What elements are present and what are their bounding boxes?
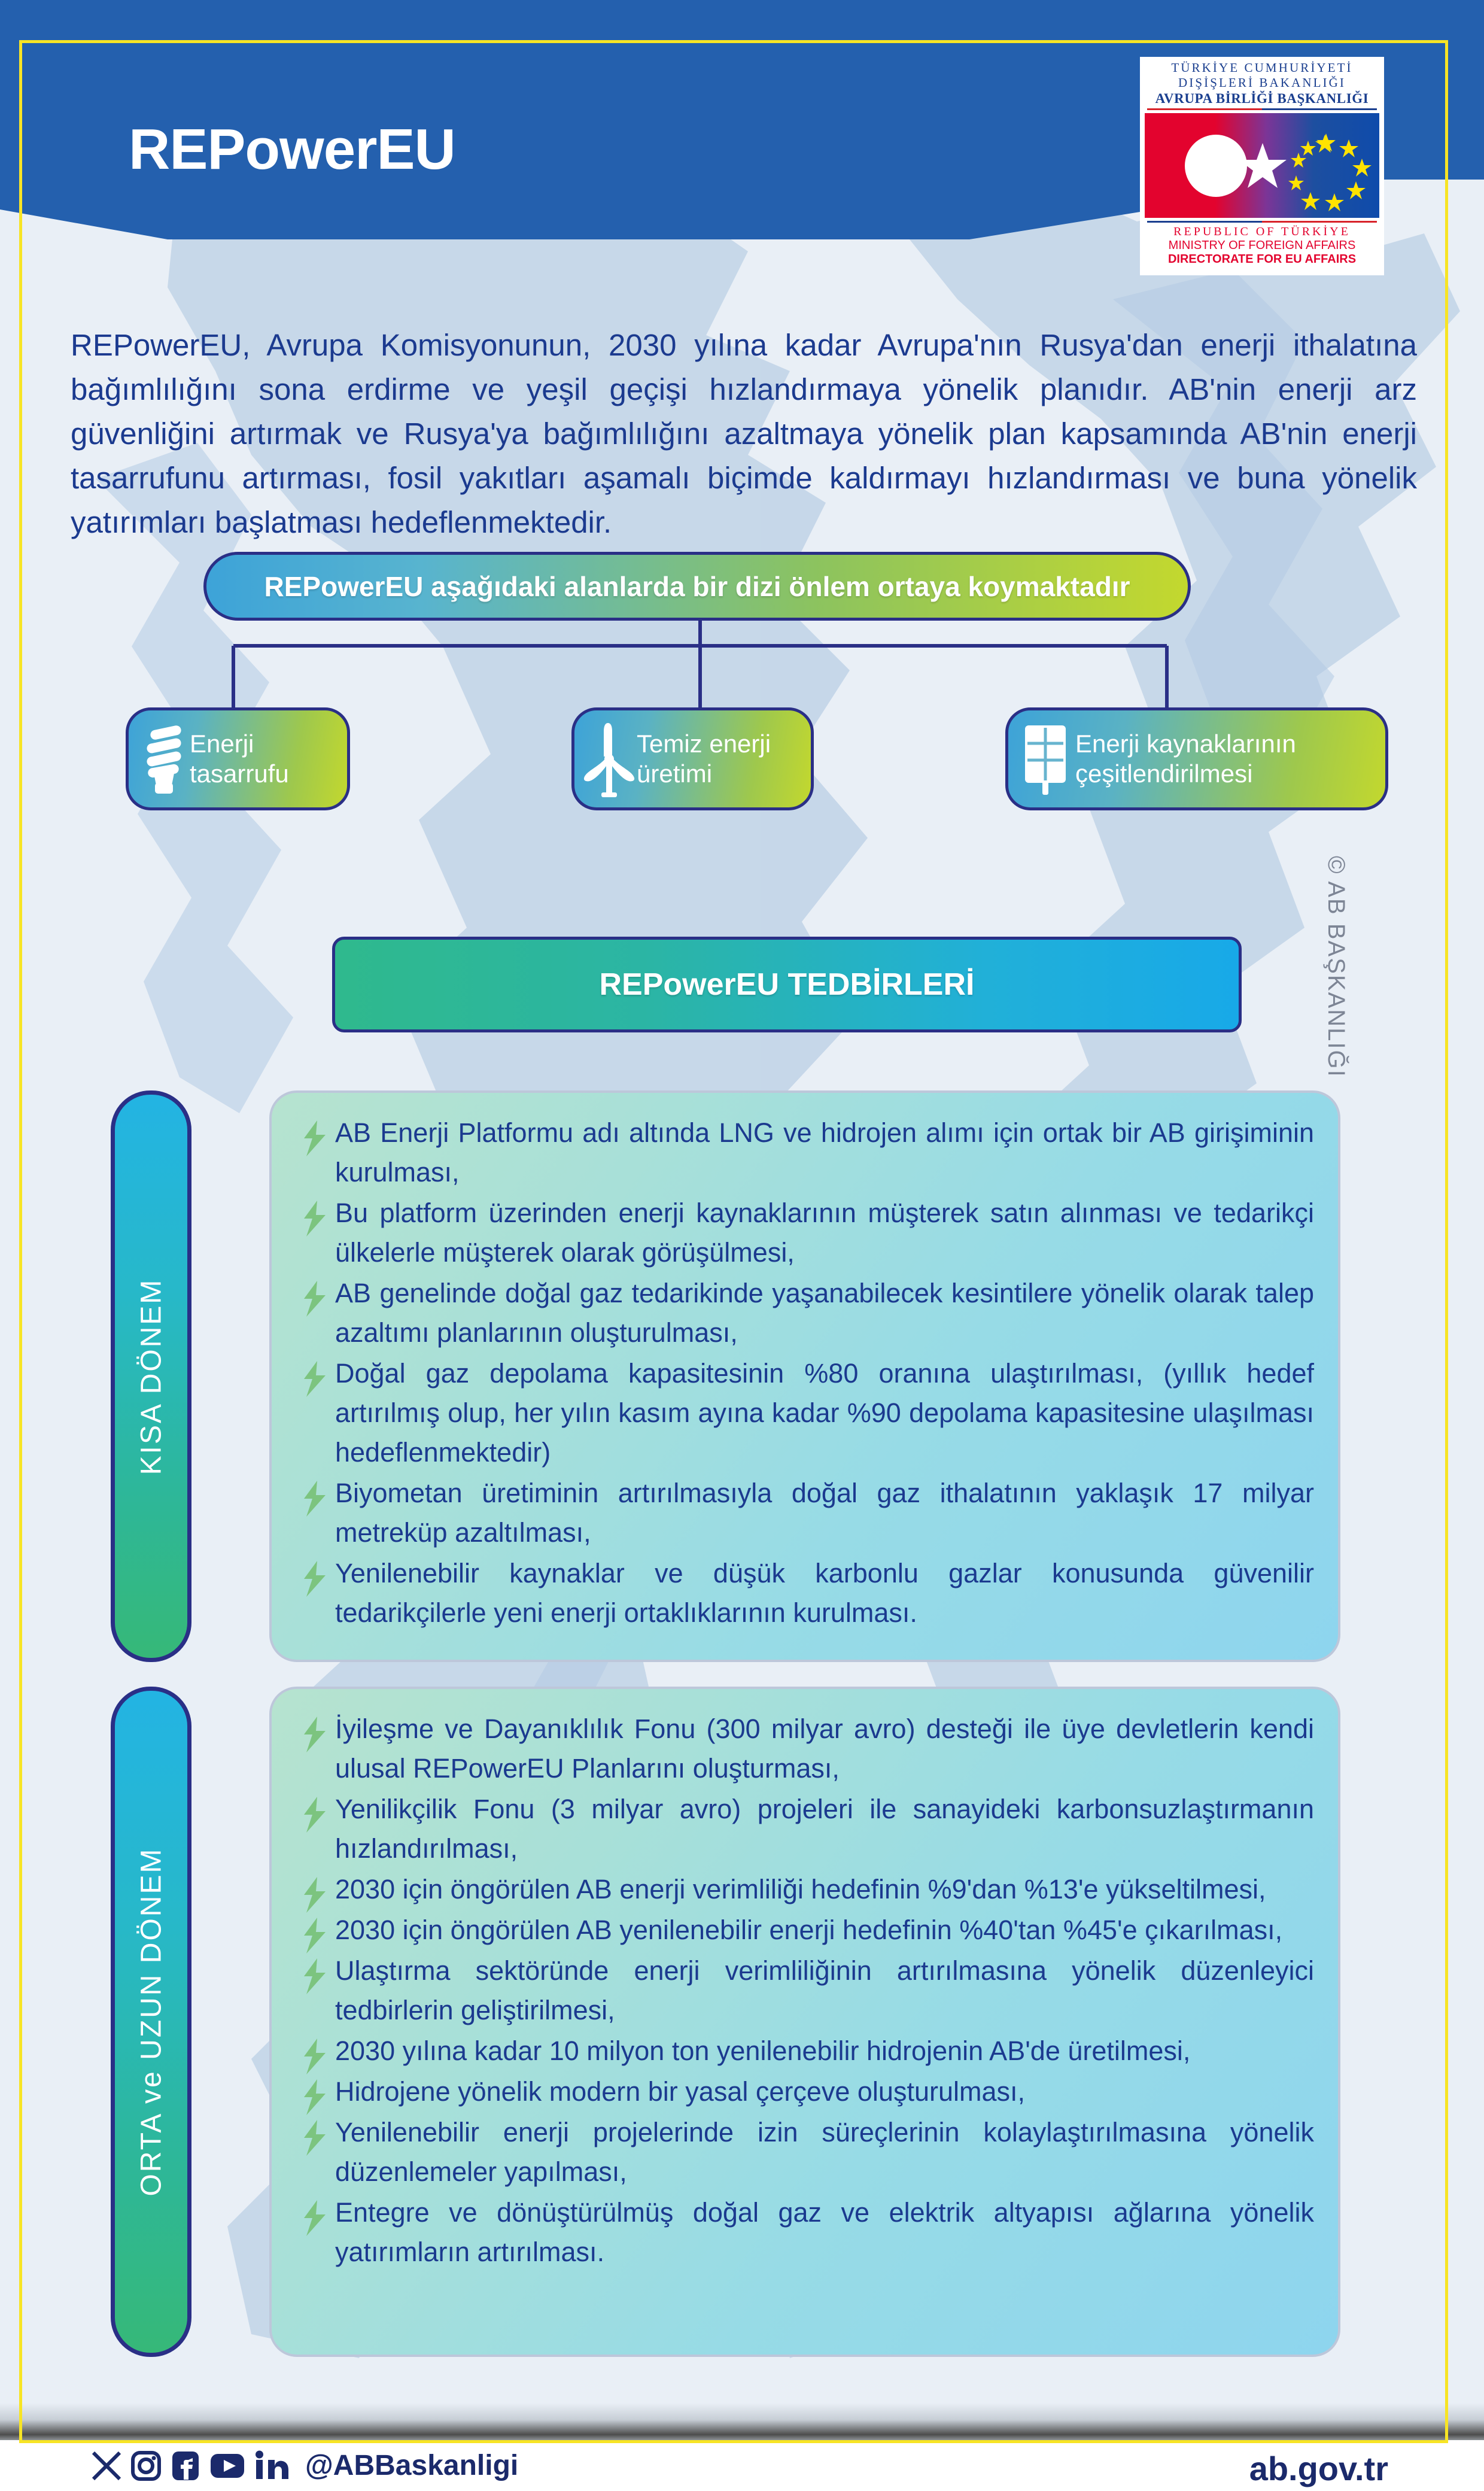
list-item: Yenilenebilir kaynaklar ve düşük karbonl… [298, 1554, 1314, 1633]
bolt-icon [302, 2039, 328, 2074]
infographic-page: REPowerEU TÜRKİYE CUMHURİYETİ DIŞİŞLERİ … [0, 0, 1484, 2491]
bolt-icon [302, 1120, 328, 1156]
measures-banner: REPowerEU TEDBİRLERİ [332, 937, 1242, 1032]
list-item-text: İyileşme ve Dayanıklılık Fonu (300 milya… [335, 1714, 1314, 1784]
logo-line-4: REPUBLIC OF TÜRKİYE [1145, 225, 1379, 239]
list-item: 2030 için öngörülen AB yenilenebilir ene… [298, 1910, 1314, 1950]
copyright-label: © AB BAŞKANLIĞI [1322, 856, 1349, 1078]
list-item-text: 2030 yılına kadar 10 milyon ton yenilene… [335, 2036, 1190, 2066]
list-item: Biyometan üretiminin artırılmasıyla doğa… [298, 1474, 1314, 1553]
period-tab-medium-long-term[interactable]: ORTA ve UZUN DÖNEM [111, 1687, 191, 2357]
logo-line-6: DIRECTORATE FOR EU AFFAIRS [1145, 253, 1379, 266]
period-panel-short-term: AB Enerji Platformu adı altında LNG ve h… [269, 1090, 1340, 1662]
period-tab-label: ORTA ve UZUN DÖNEM [135, 1848, 168, 2197]
ministry-logo: TÜRKİYE CUMHURİYETİ DIŞİŞLERİ BAKANLIĞI … [1140, 57, 1384, 275]
social-handle[interactable]: @ABBaskanligi [305, 2449, 518, 2482]
bolt-icon [302, 1361, 328, 1397]
list-item-text: Biyometan üretiminin artırılmasıyla doğa… [335, 1478, 1314, 1548]
list-item-text: Bu platform üzerinden enerji kaynakların… [335, 1198, 1314, 1268]
x-icon[interactable] [90, 2448, 123, 2483]
area-card-diversification[interactable]: Enerji kaynaklarının çeşitlendirilmesi [1005, 707, 1388, 810]
logo-divider-bottom [1147, 221, 1377, 223]
bolt-icon [302, 1958, 328, 1994]
area-card-clean-energy[interactable]: Temiz enerji üretimi [571, 707, 814, 810]
footer-gradient-divider [0, 2403, 1484, 2440]
page-title: REPowerEU [129, 117, 455, 183]
bolt-icon [302, 1877, 328, 1913]
area-card-label: Enerji kaynaklarının çeşitlendirilmesi [1075, 729, 1377, 789]
facebook-icon[interactable] [169, 2448, 202, 2483]
list-item: Yenilikçilik Fonu (3 milyar avro) projel… [298, 1790, 1314, 1869]
list-item: Entegre ve dönüştürülmüş doğal gaz ve el… [298, 2193, 1314, 2272]
list-item-text: Doğal gaz depolama kapasitesinin %80 ora… [335, 1358, 1314, 1468]
list-item: AB Enerji Platformu adı altında LNG ve h… [298, 1113, 1314, 1192]
list-item-text: Yenilenebilir enerji projelerinde izin s… [335, 2117, 1314, 2187]
logo-line-2: DIŞİŞLERİ BAKANLIĞI [1145, 75, 1379, 90]
period-tab-label: KISA DÖNEM [135, 1278, 168, 1475]
list-item-text: 2030 için öngörülen AB enerji verimliliğ… [335, 1874, 1266, 1904]
bolt-icon [302, 1918, 328, 1954]
areas-banner: REPowerEU aşağıdaki alanlarda bir dizi ö… [203, 552, 1191, 621]
list-item-text: AB Enerji Platformu adı altında LNG ve h… [335, 1117, 1314, 1187]
cfl-bulb-icon [138, 723, 190, 795]
list-item-text: Entegre ve dönüştürülmüş doğal gaz ve el… [335, 2197, 1314, 2267]
bolt-icon [302, 1281, 328, 1317]
bolt-icon [302, 1561, 328, 1597]
list-item-text: Yenilenebilir kaynaklar ve düşük karbonl… [335, 1558, 1314, 1628]
youtube-icon[interactable] [208, 2448, 247, 2483]
period-panel-medium-long-term: İyileşme ve Dayanıklılık Fonu (300 milya… [269, 1687, 1340, 2357]
logo-line-3: AVRUPA BİRLİĞİ BAŞKANLIĞI [1145, 90, 1379, 107]
bolt-icon [302, 1481, 328, 1517]
bolt-icon [302, 1797, 328, 1833]
wind-turbine-icon [582, 719, 637, 798]
instagram-icon[interactable] [129, 2448, 163, 2483]
list-item-text: Yenilikçilik Fonu (3 milyar avro) projel… [335, 1794, 1314, 1864]
list-item-text: AB genelinde doğal gaz tedarikinde yaşan… [335, 1278, 1314, 1348]
bolt-icon [302, 1717, 328, 1752]
list-item: 2030 yılına kadar 10 milyon ton yenilene… [298, 2031, 1314, 2071]
list-item: 2030 için öngörülen AB enerji verimliliğ… [298, 1870, 1314, 1909]
bolt-icon [302, 1201, 328, 1237]
turkiye-eu-flag-icon [1145, 113, 1379, 218]
area-card-energy-saving[interactable]: Enerji tasarrufu [126, 707, 350, 810]
bolt-icon [302, 2079, 328, 2115]
logo-divider-top [1147, 108, 1377, 110]
period-tab-short-term[interactable]: KISA DÖNEM [111, 1090, 191, 1662]
list-item: Yenilenebilir enerji projelerinde izin s… [298, 2113, 1314, 2192]
list-item-text: Ulaştırma sektöründe enerji verimliliğin… [335, 1955, 1314, 2025]
list-item: AB genelinde doğal gaz tedarikinde yaşan… [298, 1274, 1314, 1353]
intro-paragraph: REPowerEU, Avrupa Komisyonunun, 2030 yıl… [71, 323, 1417, 545]
logo-line-5: MINISTRY OF FOREIGN AFFAIRS [1145, 239, 1379, 253]
list-item: Ulaştırma sektöründe enerji verimliliğin… [298, 1951, 1314, 2030]
linkedin-icon[interactable] [253, 2448, 296, 2483]
list-item-text: 2030 için öngörülen AB yenilenebilir ene… [335, 1915, 1282, 1945]
logo-line-1: TÜRKİYE CUMHURİYETİ [1145, 60, 1379, 75]
list-item: Bu platform üzerinden enerji kaynakların… [298, 1193, 1314, 1272]
website-url[interactable]: ab.gov.tr [1249, 2449, 1388, 2488]
solar-panel-icon [1017, 721, 1075, 797]
bolt-icon [302, 2200, 328, 2236]
social-links[interactable]: @ABBaskanligi [90, 2448, 518, 2483]
bolt-icon [302, 2120, 328, 2156]
connector-lines [197, 619, 1203, 715]
list-item: İyileşme ve Dayanıklılık Fonu (300 milya… [298, 1709, 1314, 1788]
area-card-label: Enerji tasarrufu [190, 729, 337, 789]
list-item-text: Hidrojene yönelik modern bir yasal çerçe… [335, 2076, 1025, 2107]
list-item: Hidrojene yönelik modern bir yasal çerçe… [298, 2072, 1314, 2112]
area-card-label: Temiz enerji üretimi [637, 729, 804, 789]
list-item: Doğal gaz depolama kapasitesinin %80 ora… [298, 1354, 1314, 1472]
